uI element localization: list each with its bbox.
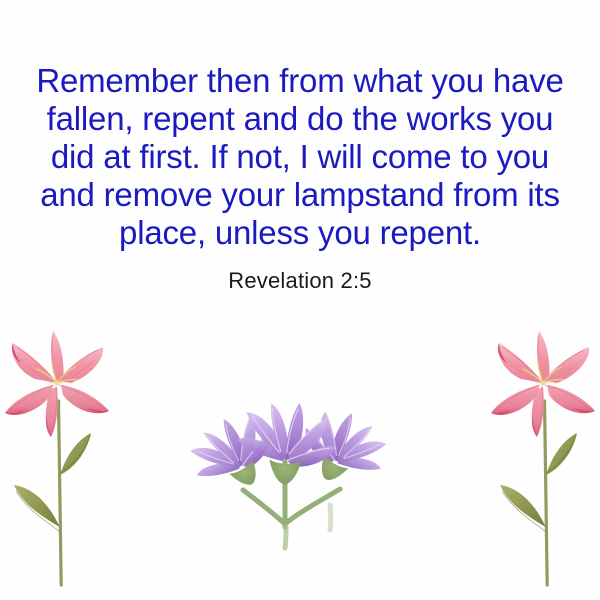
lily-flower-left — [5, 331, 109, 585]
verse-text: Remember then from what you have fallen,… — [0, 62, 600, 252]
aster-stem-left — [243, 490, 285, 524]
stem-fragment — [330, 505, 331, 530]
aster-flower-left — [179, 402, 288, 507]
aster-flower-center — [236, 401, 338, 486]
aster-stem-right — [285, 489, 340, 524]
aster-flower-right — [289, 397, 398, 500]
aster-cluster-center — [179, 397, 397, 548]
lily-flower-right — [491, 331, 595, 585]
scripture-reference: Revelation 2:5 — [0, 268, 600, 294]
image-canvas: Remember then from what you have fallen,… — [0, 0, 600, 600]
